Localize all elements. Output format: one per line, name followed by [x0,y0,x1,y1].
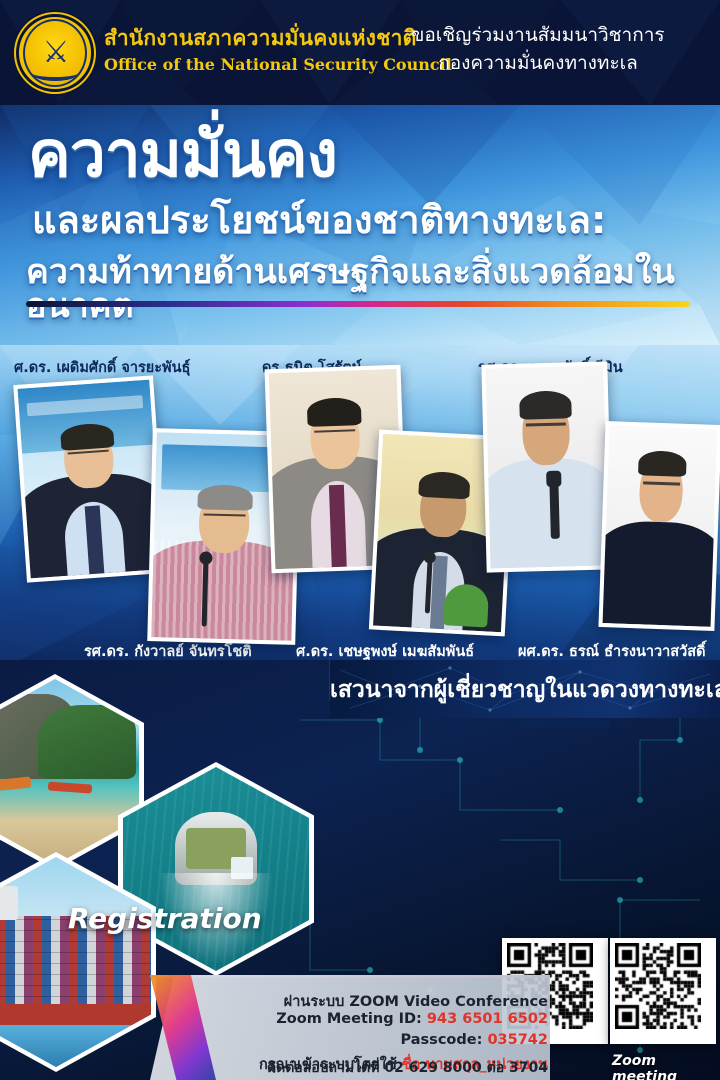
contact-line: ติดต่อสอบถามได้ที่ 02 629 8000 ต่อ 3704 [8,1057,548,1079]
poster-title-sub-1: และผลประโยชน์ของชาติทางทะเล: [32,201,606,239]
panel-discussion-banner: เสวนาจากผู้เชี่ยวชาญในแวดวงทางทะเล [330,660,720,718]
zoom-meeting-qr-code[interactable] [610,938,716,1044]
zoom-platform-line: ผ่านระบบ ZOOM Video Conference [284,990,548,1013]
speaker-name-1: ศ.ดร. เผดิมศักดิ์ จารยะพันธุ์ [14,356,190,379]
zoom-meeting-id-label: Zoom Meeting ID: [276,1011,422,1027]
zoom-meeting-qr-image [615,943,701,1029]
speaker-photo-1 [13,375,166,582]
speaker-photo-1-image [18,380,163,579]
organization-name-thai: สำนักงานสภาความมั่นคงแห่งชาติ [104,22,416,55]
lower-section: วันพุธที่ 29 มิถุนายน 2565 ความท้าทายด้า… [0,660,720,1080]
invitation-line-1: ขอเชิญร่วมงานสัมมนาวิชาการ [378,22,698,50]
seminar-poster: ⚔ สำนักงานสภาความมั่นคงแห่งชาติ Office o… [0,0,720,1080]
speakers-section: ศ.ดร. เผดิมศักดิ์ จารยะพันธุ์ ดร.ธนิต โส… [0,345,720,670]
speaker-photo-6-image [603,425,718,627]
zoom-passcode-label: Passcode: [401,1032,483,1048]
zoom-meeting-qr-label: Zoom meeting [612,1053,720,1080]
seal-arc [32,65,78,81]
seal-inner-disc: ⚔ [23,19,87,87]
title-band: ความมั่นคง และผลประโยชน์ของชาติทางทะเล: … [0,105,720,345]
zoom-passcode-line: Passcode: 035742 [401,1032,548,1048]
registration-title-text: Registration [68,902,262,935]
title-underline-gradient [26,301,690,307]
zoom-passcode-value: 035742 [487,1032,548,1048]
invitation-heading: ขอเชิญร่วมงานสัมมนาวิชาการ กองความมั่นคง… [378,22,698,77]
poster-title-sub-2: ความท้าทายด้านเศรษฐกิจและสิ่งแวดล้อมในอน… [26,255,720,323]
poster-header: ⚔ สำนักงานสภาความมั่นคงแห่งชาติ Office o… [0,0,720,105]
seal-emblem-figure: ⚔ [43,38,68,68]
speaker-photo-5 [481,361,612,572]
registration-title: Registration [68,902,262,935]
panel-discussion-label: เสวนาจากผู้เชี่ยวชาญในแวดวงทางทะเล [330,672,706,708]
poster-title-main: ความมั่นคง [28,123,337,187]
speaker-photo-6 [598,421,720,631]
speaker-photo-5-image [485,365,608,568]
invitation-line-2: กองความมั่นคงทางทะเล [378,50,698,78]
zoom-meeting-id-value: 943 6501 6502 [427,1011,548,1027]
garuda-seal-logo: ⚔ [16,14,94,92]
zoom-meeting-id-line: Zoom Meeting ID: 943 6501 6502 [276,1011,548,1027]
